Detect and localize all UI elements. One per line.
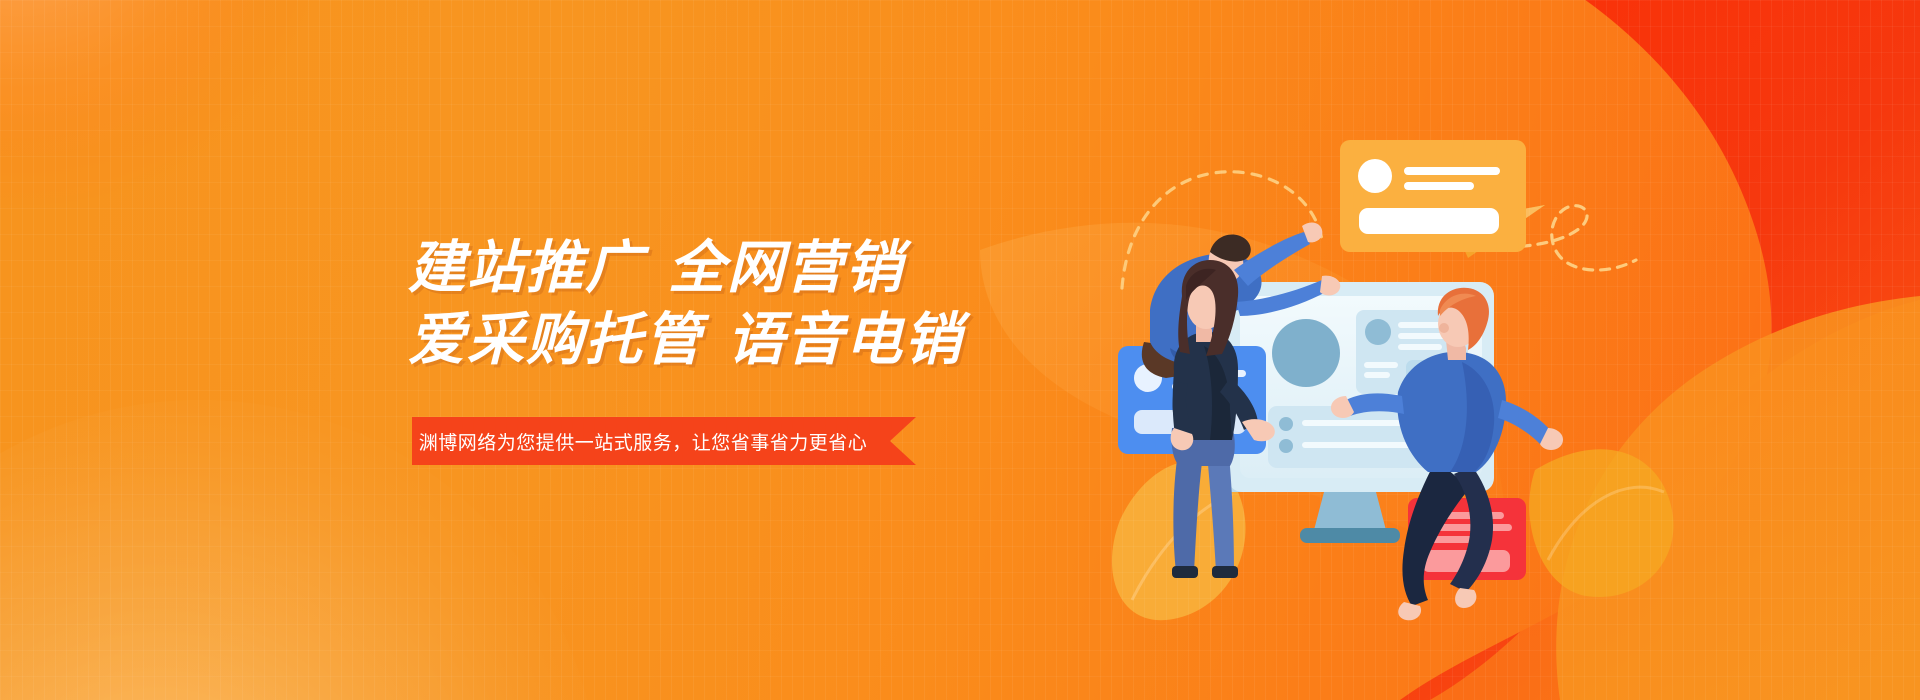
monitor-base — [1300, 528, 1400, 543]
illustration-svg — [1110, 110, 1590, 630]
headline-line1-part-a: 建站推广 — [408, 236, 644, 300]
headline-line-1: 建站推广全网营销 — [408, 232, 1048, 304]
team-collaboration-illustration — [1110, 110, 1590, 630]
headline-line2-part-a: 爱采购托管 — [408, 308, 703, 372]
monitor-stand — [1314, 492, 1386, 530]
promo-banner: 建站推广全网营销 爱采购托管语音电销 渊博网络为您提供一站式服务，让您省事省力更… — [0, 0, 1920, 700]
headline-line-2: 爱采购托管语音电销 — [408, 304, 1048, 376]
top-left-glow-circle — [0, 0, 410, 320]
headline-line2-part-b: 语音电销 — [727, 308, 963, 372]
orange-profile-card — [1340, 140, 1526, 252]
headline-line1-part-b: 全网营销 — [668, 236, 904, 300]
tagline-ribbon: 渊博网络为您提供一站式服务，让您省事省力更省心 — [412, 417, 916, 465]
screen-avatar-large — [1272, 319, 1340, 387]
headline-block: 建站推广全网营销 爱采购托管语音电销 — [408, 232, 1048, 376]
ribbon-label: 渊博网络为您提供一站式服务，让您省事省力更省心 — [412, 417, 874, 465]
